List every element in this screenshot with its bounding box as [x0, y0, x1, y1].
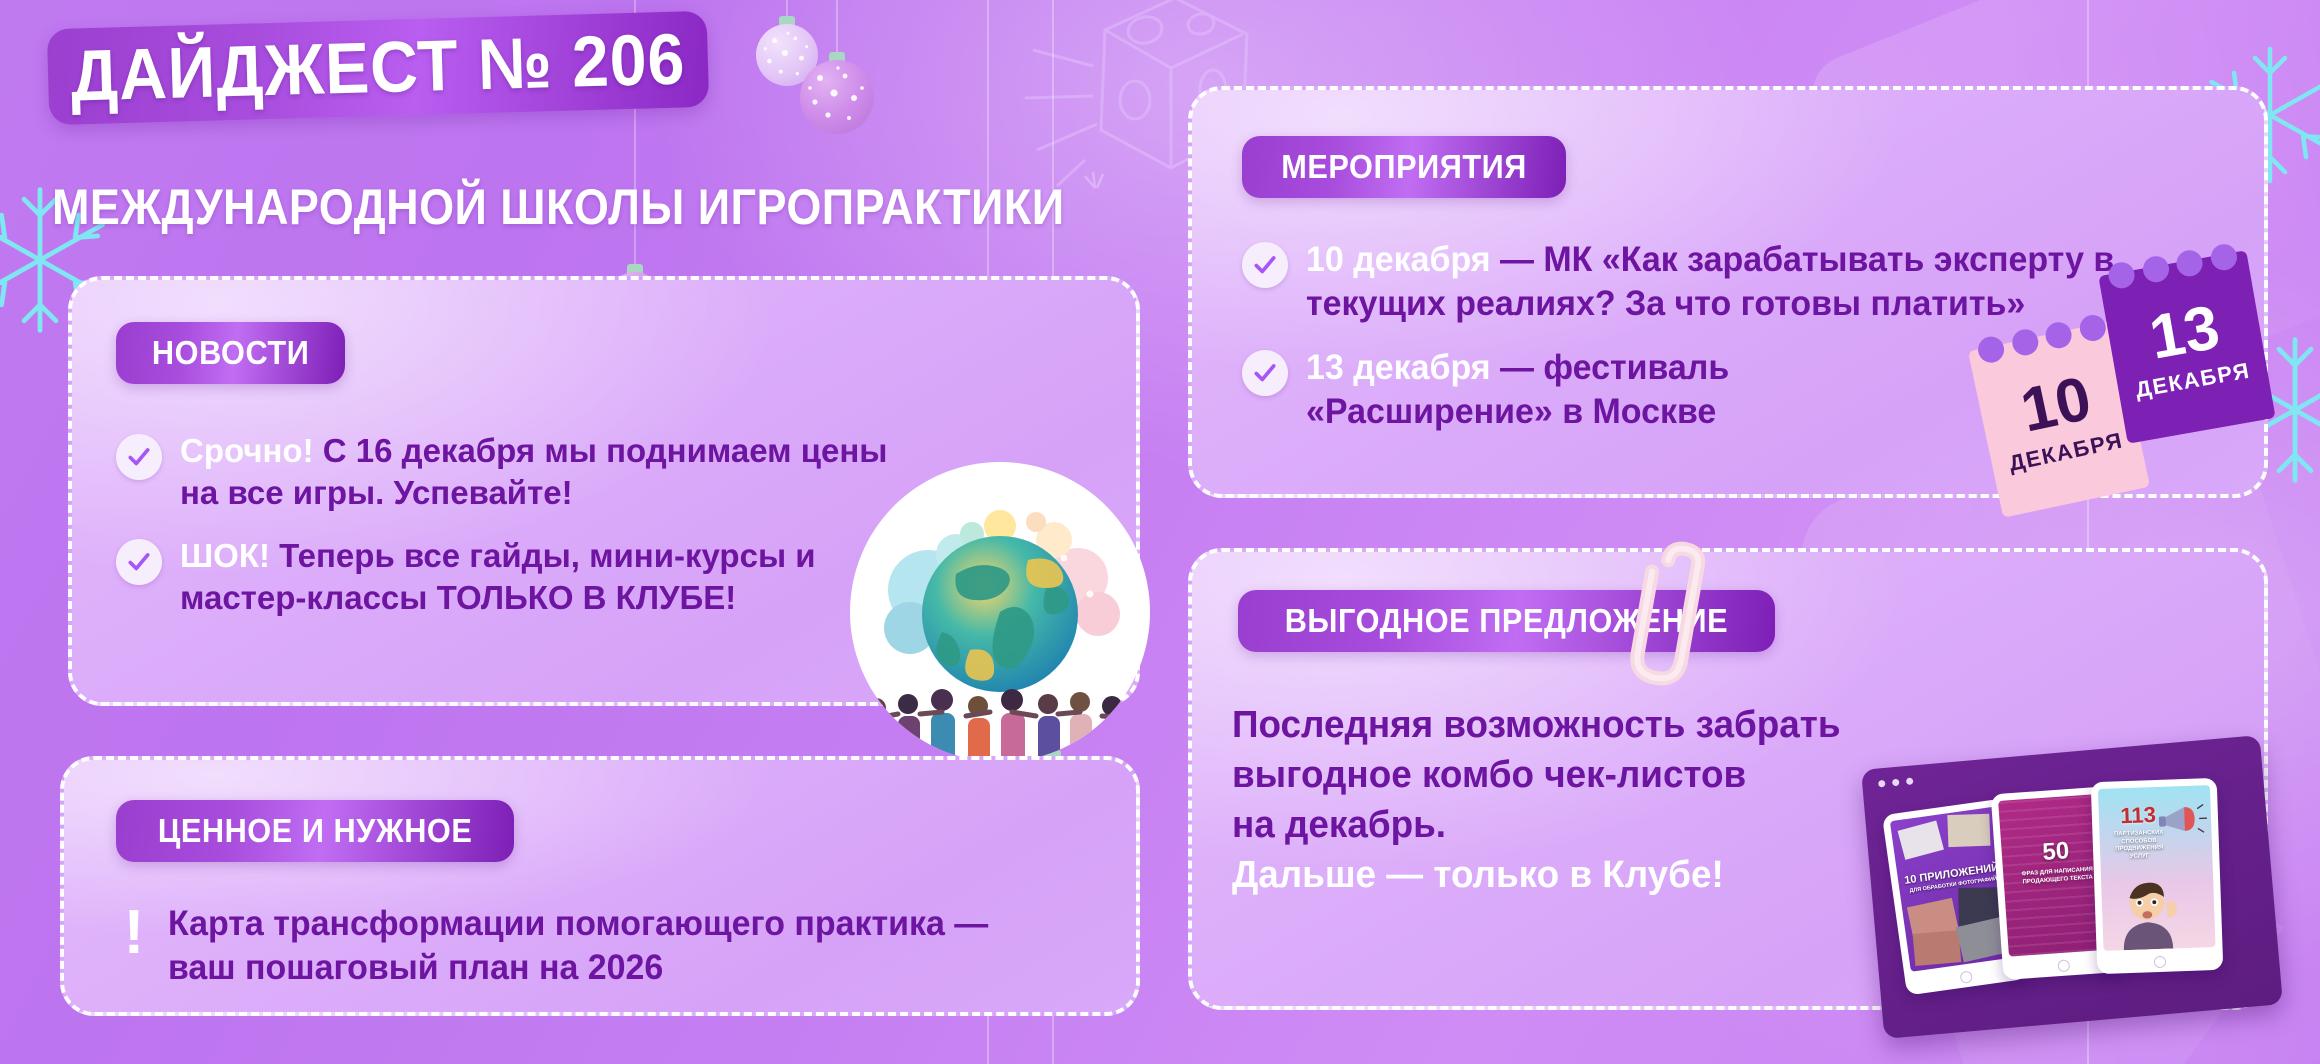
news-item-highlight: Срочно! [180, 432, 314, 469]
list-item: Срочно! С 16 декабря мы поднимаем цены н… [116, 430, 896, 513]
valuable-chip-label: ЦЕННОЕ И НУЖНОЕ [158, 812, 473, 850]
exclamation-bullet-icon: ! [120, 904, 148, 961]
tablet-home-button [1959, 970, 1973, 984]
page-title: ДАЙДЖЕСТ № 206 [70, 18, 687, 117]
check-circle-icon [116, 434, 162, 480]
page-subtitle: МЕЖДУНАРОДНОЙ ШКОЛЫ ИГРОПРАКТИКИ [52, 178, 1132, 236]
globe-people-illustration [850, 462, 1150, 762]
calendar-ring [2141, 254, 2171, 284]
check-circle-icon [116, 539, 162, 585]
news-item-text: Срочно! С 16 декабря мы поднимаем цены н… [180, 430, 896, 513]
calendar-ring [2106, 260, 2136, 290]
events-item-text: 13 декабря — фестиваль «Расширение» в Мо… [1306, 346, 1810, 434]
events-chip: МЕРОПРИЯТИЯ [1242, 136, 1566, 198]
list-item: ШОК! Теперь все гайды, мини-курсы и маст… [116, 535, 896, 618]
news-item-rest: Теперь все гайды, мини-курсы и мастер-кл… [180, 537, 816, 616]
valuable-bullets: ! Карта трансформации помогающего практи… [120, 902, 1090, 990]
valuable-item-text: Карта трансформации помогающего практика… [168, 902, 1062, 990]
christmas-ball-icon [800, 60, 874, 134]
offer-line-2: выгодное комбо чек-листов [1232, 750, 1911, 800]
events-chip-label: МЕРОПРИЯТИЯ [1281, 148, 1527, 186]
digest-poster: ДАЙДЖЕСТ № 206 МЕЖДУНАРОДНОЙ ШКОЛЫ ИГРОП… [0, 0, 2320, 1064]
calendar-ring [2175, 248, 2205, 278]
tablet-3-title: 113 ПАРТИЗАНСКИХ СПОСОБОВ ПРОДВИЖЕНИЯ УС… [2105, 802, 2172, 862]
check-circle-icon [1242, 350, 1288, 396]
news-bullets: Срочно! С 16 декабря мы поднимаем цены н… [116, 430, 896, 618]
events-item-highlight: 10 декабря [1306, 240, 1491, 279]
calendar-ring [1976, 334, 2007, 365]
checklists-tablets-illustration: 10 ПРИЛОЖЕНИЙ ДЛЯ ОБРАБОТКИ ФОТОГРАФИЙ 5… [1872, 752, 2272, 1022]
news-card: НОВОСТИ Срочно! С 16 декабря мы поднимае… [68, 276, 1140, 706]
offer-line-1: Последняя возможность забрать [1232, 700, 1911, 750]
offer-line-4: Дальше — только в Клубе! [1232, 850, 1911, 900]
valuable-card: ЦЕННОЕ И НУЖНОЕ ! Карта трансформации по… [60, 756, 1140, 1016]
list-item: ! Карта трансформации помогающего практи… [120, 902, 1090, 990]
check-circle-icon [1242, 242, 1288, 288]
list-item: 10 декабря — МК «Как зарабатывать экспер… [1242, 238, 2172, 326]
window-dots [1878, 777, 1913, 787]
calendar-ring [2077, 313, 2108, 344]
events-item-highlight: 13 декабря [1306, 348, 1491, 387]
tablet-home-button [2154, 956, 2166, 968]
digest-title-badge: ДАЙДЖЕСТ № 206 [47, 11, 709, 125]
calendar-ring [2010, 327, 2041, 358]
tablet-mock-3: 113 ПАРТИЗАНСКИХ СПОСОБОВ ПРОДВИЖЕНИЯ УС… [2091, 778, 2224, 974]
calendar-ring [2043, 320, 2074, 351]
offer-body: Последняя возможность забрать выгодное к… [1232, 700, 1911, 901]
events-item-text: 10 декабря — МК «Как зарабатывать экспер… [1306, 238, 2131, 326]
news-item-text: ШОК! Теперь все гайды, мини-курсы и маст… [180, 535, 820, 618]
calendar-ring [2209, 242, 2239, 272]
calendar-icon-13: 13 ДЕКАБРЯ [2098, 250, 2275, 443]
valuable-chip: ЦЕННОЕ И НУЖНОЕ [116, 800, 514, 862]
tablet-home-button [2057, 959, 2070, 972]
news-chip-label: НОВОСТИ [152, 334, 309, 372]
news-chip: НОВОСТИ [116, 322, 345, 384]
offer-card: ВЫГОДНОЕ ПРЕДЛОЖЕНИЕ Последняя возможнос… [1188, 548, 2268, 1010]
news-item-highlight: ШОК! [180, 537, 270, 574]
tablet-3-subtitle: ПАРТИЗАНСКИХ СПОСОБОВ ПРОДВИЖЕНИЯ УСЛУГ [2106, 829, 2172, 862]
offer-line-3: на декабрь. [1232, 800, 1911, 850]
